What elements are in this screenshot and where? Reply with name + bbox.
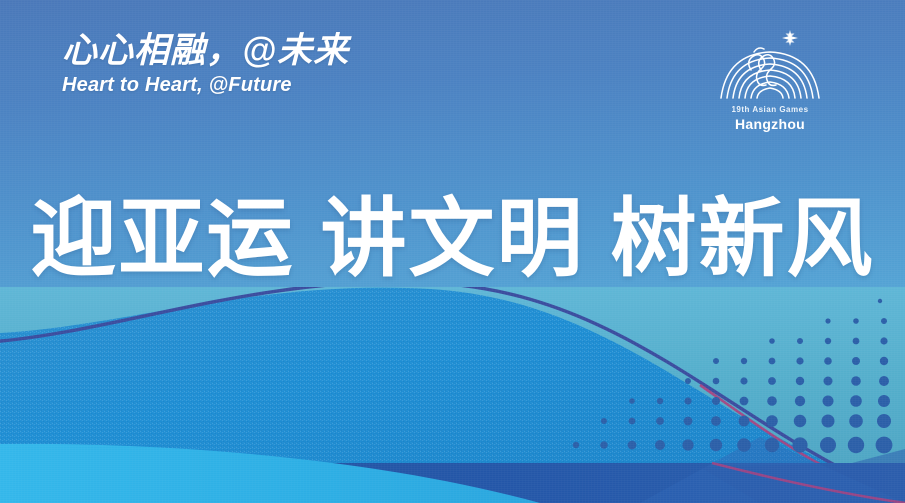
hangzhou-asian-games-fan-emblem [711,26,829,104]
page-title: 迎亚运讲文明树新风 [0,196,905,282]
slogan-english: Heart to Heart, @Future [62,75,349,95]
slogan-block: 心心相融，@未来 Heart to Heart, @Future [62,33,349,95]
poster-canvas: 心心相融，@未来 Heart to Heart, @Future [0,0,905,503]
emblem-line2: Hangzhou [711,116,829,132]
headline-part-1: 迎亚运 [31,191,295,287]
star-icon [782,30,798,46]
headline-part-3: 树新风 [611,191,875,287]
asian-games-emblem: 19th Asian Games Hangzhou [711,26,829,132]
emblem-line1: 19th Asian Games [711,105,829,114]
wave-scene [0,287,905,503]
headline-part-2: 讲文明 [321,191,585,287]
slogan-chinese: 心心相融，@未来 [62,33,349,68]
